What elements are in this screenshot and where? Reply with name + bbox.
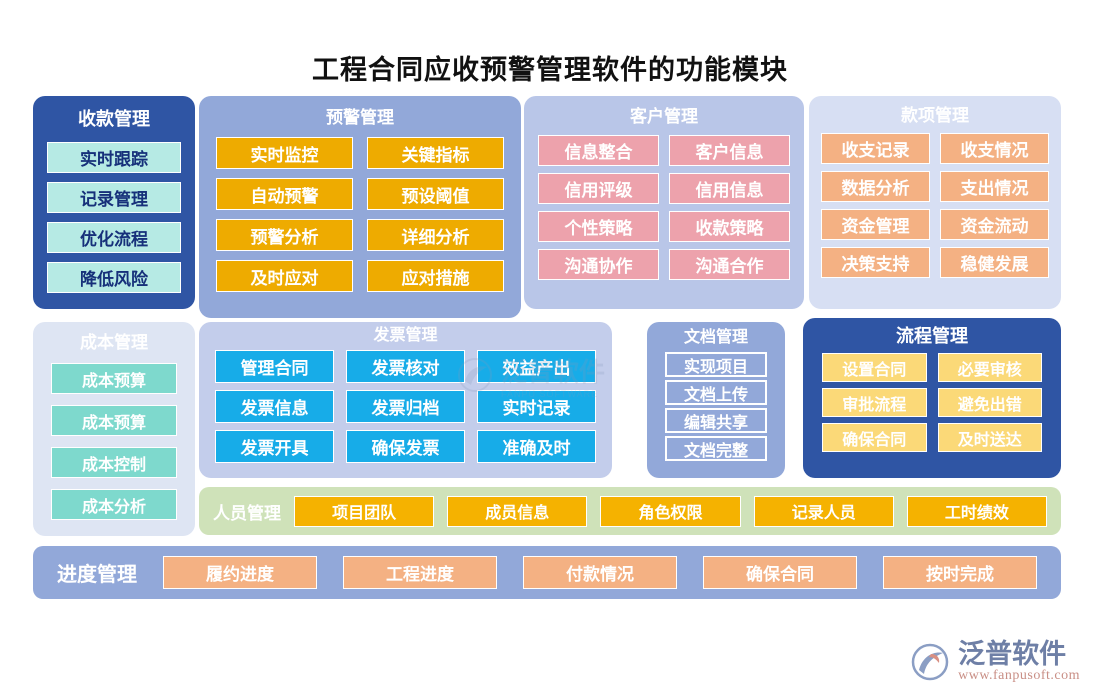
pill-cost-2[interactable]: 成本控制: [51, 447, 177, 478]
pill-alert-6[interactable]: 及时应对: [216, 260, 353, 292]
footer-logo-name: 泛普软件: [958, 640, 1080, 668]
pill-receipt-0[interactable]: 实时跟踪: [47, 142, 181, 173]
pill-alert-1[interactable]: 关键指标: [367, 137, 504, 169]
pill-invoice-5[interactable]: 实时记录: [477, 390, 596, 423]
pill-payment-7[interactable]: 稳健发展: [940, 247, 1049, 278]
panel-invoice-management: 发票管理 管理合同 发票核对 效益产出 发票信息 发票归档 实时记录 发票开具 …: [199, 322, 612, 478]
pill-progress-1[interactable]: 工程进度: [343, 556, 497, 589]
pill-process-3[interactable]: 避免出错: [938, 388, 1043, 417]
pill-alert-0[interactable]: 实时监控: [216, 137, 353, 169]
pill-progress-2[interactable]: 付款情况: [523, 556, 677, 589]
pill-staff-3[interactable]: 记录人员: [754, 496, 894, 527]
bar-staff-management: 人员管理 项目团队 成员信息 角色权限 记录人员 工时绩效: [199, 487, 1061, 535]
footer-logo-url: www.fanpusoft.com: [958, 668, 1080, 684]
pill-invoice-4[interactable]: 发票归档: [346, 390, 465, 423]
pill-alert-2[interactable]: 自动预警: [216, 178, 353, 210]
pill-staff-1[interactable]: 成员信息: [447, 496, 587, 527]
pill-process-1[interactable]: 必要审核: [938, 353, 1043, 382]
pill-alert-5[interactable]: 详细分析: [367, 219, 504, 251]
pill-progress-3[interactable]: 确保合同: [703, 556, 857, 589]
pill-payment-6[interactable]: 决策支持: [821, 247, 930, 278]
pill-payment-2[interactable]: 数据分析: [821, 171, 930, 202]
pill-process-0[interactable]: 设置合同: [822, 353, 927, 382]
pill-customer-1[interactable]: 客户信息: [669, 135, 790, 166]
pill-customer-4[interactable]: 个性策略: [538, 211, 659, 242]
pill-payment-4[interactable]: 资金管理: [821, 209, 930, 240]
page-title: 工程合同应收预警管理软件的功能模块: [0, 48, 1100, 87]
pill-cost-0[interactable]: 成本预算: [51, 363, 177, 394]
pill-staff-0[interactable]: 项目团队: [294, 496, 434, 527]
footer-logo: 泛普软件 www.fanpusoft.com: [910, 640, 1080, 684]
pill-customer-3[interactable]: 信用信息: [669, 173, 790, 204]
pill-document-0[interactable]: 实现项目: [665, 352, 767, 377]
panel-title-process: 流程管理: [803, 327, 1061, 345]
pill-invoice-0[interactable]: 管理合同: [215, 350, 334, 383]
bar-title-progress: 进度管理: [57, 558, 137, 587]
panel-alert-management: 预警管理 实时监控 关键指标 自动预警 预设阈值 预警分析 详细分析 及时应对 …: [199, 96, 521, 318]
pill-staff-4[interactable]: 工时绩效: [907, 496, 1047, 527]
pill-customer-0[interactable]: 信息整合: [538, 135, 659, 166]
pill-payment-5[interactable]: 资金流动: [940, 209, 1049, 240]
pill-cost-3[interactable]: 成本分析: [51, 489, 177, 520]
fanpu-brand-icon: [910, 642, 950, 682]
pill-document-3[interactable]: 文档完整: [665, 436, 767, 461]
pill-invoice-2[interactable]: 效益产出: [477, 350, 596, 383]
pill-receipt-3[interactable]: 降低风险: [47, 262, 181, 293]
pill-progress-0[interactable]: 履约进度: [163, 556, 317, 589]
pill-progress-4[interactable]: 按时完成: [883, 556, 1037, 589]
panel-title-document: 文档管理: [647, 330, 785, 346]
pill-customer-7[interactable]: 沟通合作: [669, 249, 790, 280]
pill-process-2[interactable]: 审批流程: [822, 388, 927, 417]
panel-title-invoice: 发票管理: [199, 328, 612, 344]
panel-title-payment: 款项管理: [809, 107, 1061, 124]
panel-document-management: 文档管理 实现项目 文档上传 编辑共享 文档完整: [647, 322, 785, 478]
panel-title-cost: 成本管理: [33, 334, 195, 351]
pill-process-5[interactable]: 及时送达: [938, 423, 1043, 452]
pill-invoice-3[interactable]: 发票信息: [215, 390, 334, 423]
panel-cost-management: 成本管理 成本预算 成本预算 成本控制 成本分析: [33, 322, 195, 536]
pill-document-1[interactable]: 文档上传: [665, 380, 767, 405]
panel-title-customer: 客户管理: [524, 108, 804, 125]
pill-alert-4[interactable]: 预警分析: [216, 219, 353, 251]
pill-invoice-6[interactable]: 发票开具: [215, 430, 334, 463]
pill-receipt-1[interactable]: 记录管理: [47, 182, 181, 213]
pill-document-2[interactable]: 编辑共享: [665, 408, 767, 433]
pill-invoice-1[interactable]: 发票核对: [346, 350, 465, 383]
panel-customer-management: 客户管理 信息整合 客户信息 信用评级 信用信息 个性策略 收款策略 沟通协作 …: [524, 96, 804, 309]
pill-cost-1[interactable]: 成本预算: [51, 405, 177, 436]
pill-receipt-2[interactable]: 优化流程: [47, 222, 181, 253]
pill-alert-7[interactable]: 应对措施: [367, 260, 504, 292]
bar-progress-management: 进度管理 履约进度 工程进度 付款情况 确保合同 按时完成: [33, 546, 1061, 599]
pill-payment-0[interactable]: 收支记录: [821, 133, 930, 164]
pill-customer-6[interactable]: 沟通协作: [538, 249, 659, 280]
bar-title-staff: 人员管理: [213, 499, 281, 524]
pill-staff-2[interactable]: 角色权限: [600, 496, 740, 527]
pill-payment-1[interactable]: 收支情况: [940, 133, 1049, 164]
panel-title-alert: 预警管理: [199, 109, 521, 126]
pill-customer-5[interactable]: 收款策略: [669, 211, 790, 242]
panel-receipt-management: 收款管理 实时跟踪 记录管理 优化流程 降低风险: [33, 96, 195, 309]
panel-payment-management: 款项管理 收支记录 收支情况 数据分析 支出情况 资金管理 资金流动 决策支持 …: [809, 96, 1061, 309]
pill-invoice-8[interactable]: 准确及时: [477, 430, 596, 463]
panel-process-management: 流程管理 设置合同 必要审核 审批流程 避免出错 确保合同 及时送达: [803, 318, 1061, 478]
pill-process-4[interactable]: 确保合同: [822, 423, 927, 452]
pill-invoice-7[interactable]: 确保发票: [346, 430, 465, 463]
pill-payment-3[interactable]: 支出情况: [940, 171, 1049, 202]
panel-title-receipt: 收款管理: [33, 110, 195, 128]
pill-customer-2[interactable]: 信用评级: [538, 173, 659, 204]
pill-alert-3[interactable]: 预设阈值: [367, 178, 504, 210]
